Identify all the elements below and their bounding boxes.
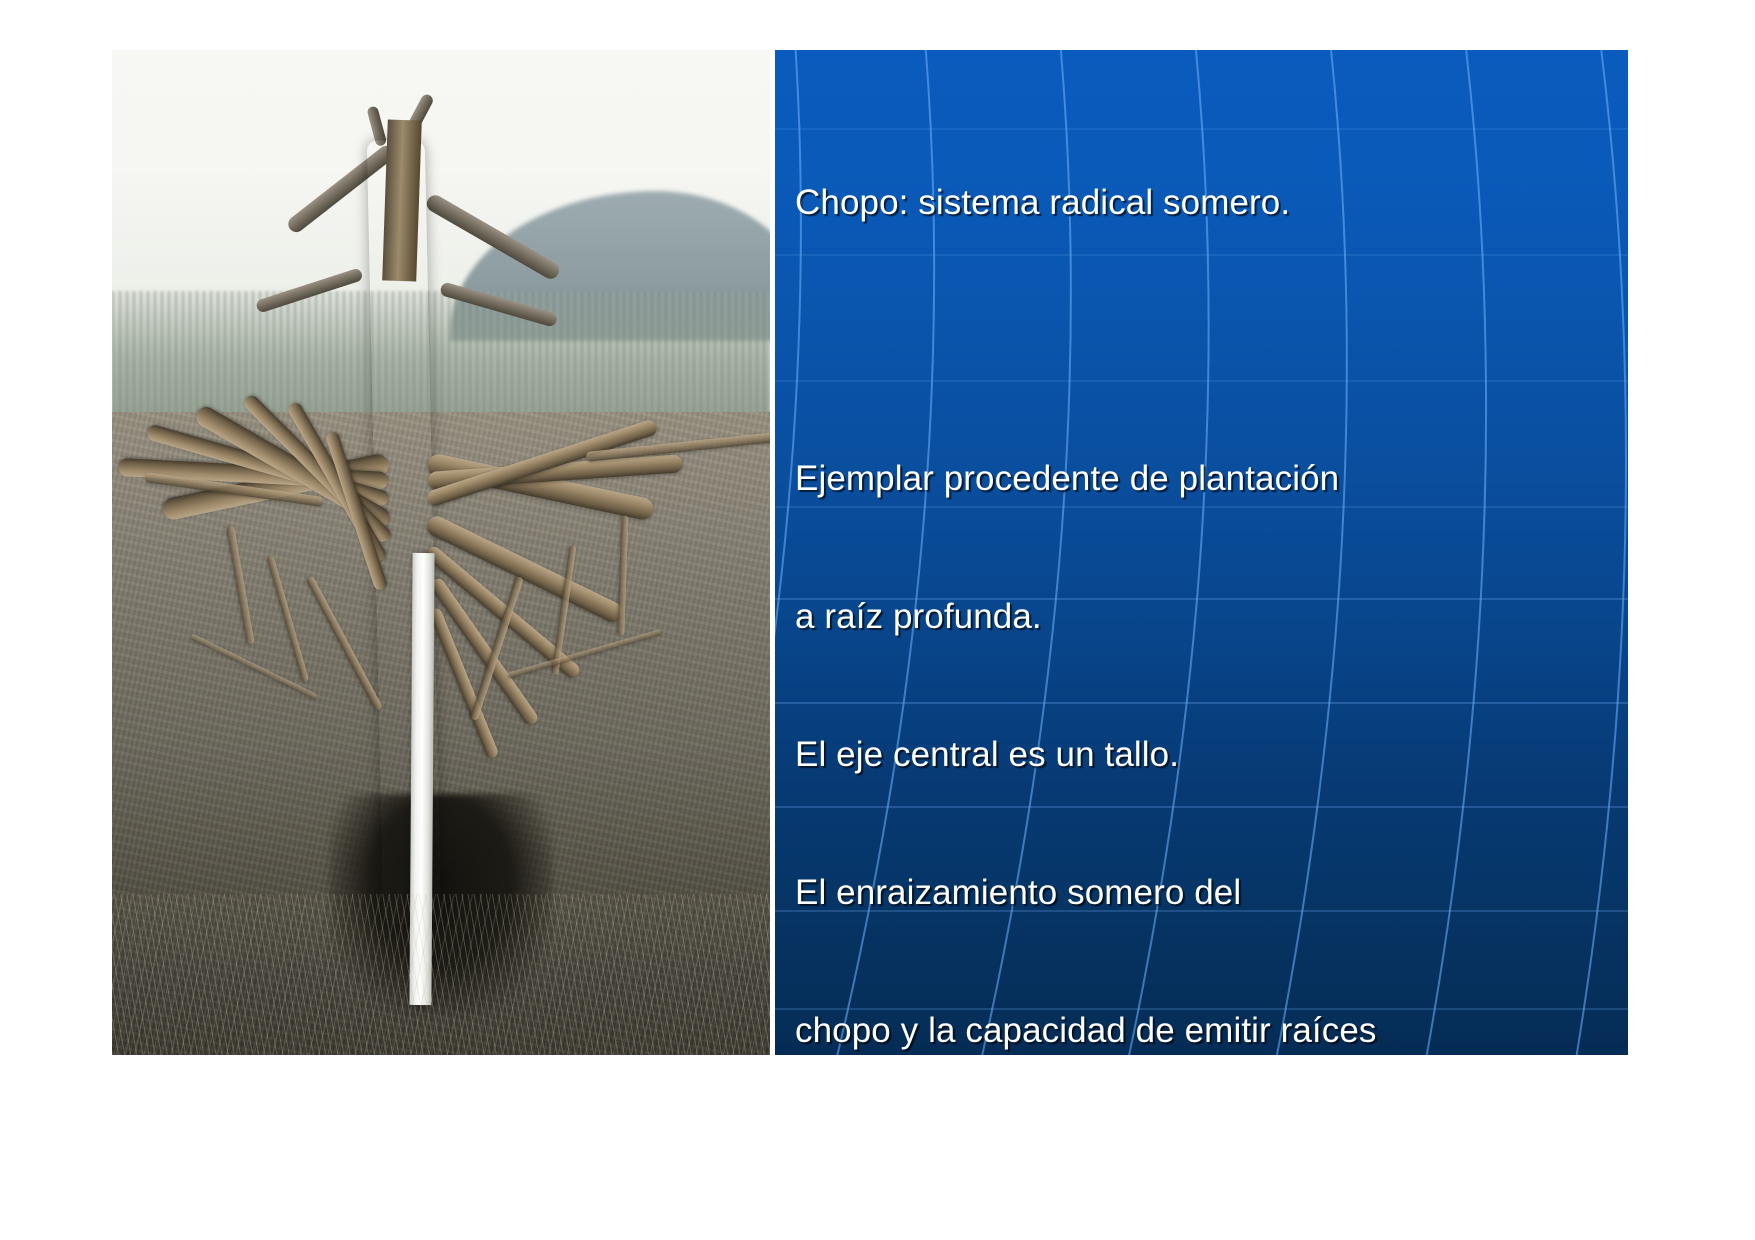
- text-line-title: Chopo: sistema radical somero.: [795, 180, 1605, 226]
- text-line-3: a raíz profunda.: [795, 594, 1605, 640]
- text-panel: Chopo: sistema radical somero. Ejemplar …: [775, 50, 1628, 1055]
- slide-canvas: Chopo: sistema radical somero. Ejemplar …: [0, 0, 1755, 1240]
- text-line-4: El eje central es un tallo.: [795, 732, 1605, 778]
- text-line-blank-1: [795, 318, 1605, 364]
- photo-trunk-upper: [382, 120, 422, 282]
- text-line-6: chopo y la capacidad de emitir raíces: [795, 1008, 1605, 1054]
- slide-text-block: Chopo: sistema radical somero. Ejemplar …: [795, 88, 1605, 1055]
- text-line-5: El enraizamiento somero del: [795, 870, 1605, 916]
- tree-root-photograph: [112, 50, 770, 1055]
- photo-foreground-debris: [112, 894, 770, 1055]
- text-line-2: Ejemplar procedente de plantación: [795, 456, 1605, 502]
